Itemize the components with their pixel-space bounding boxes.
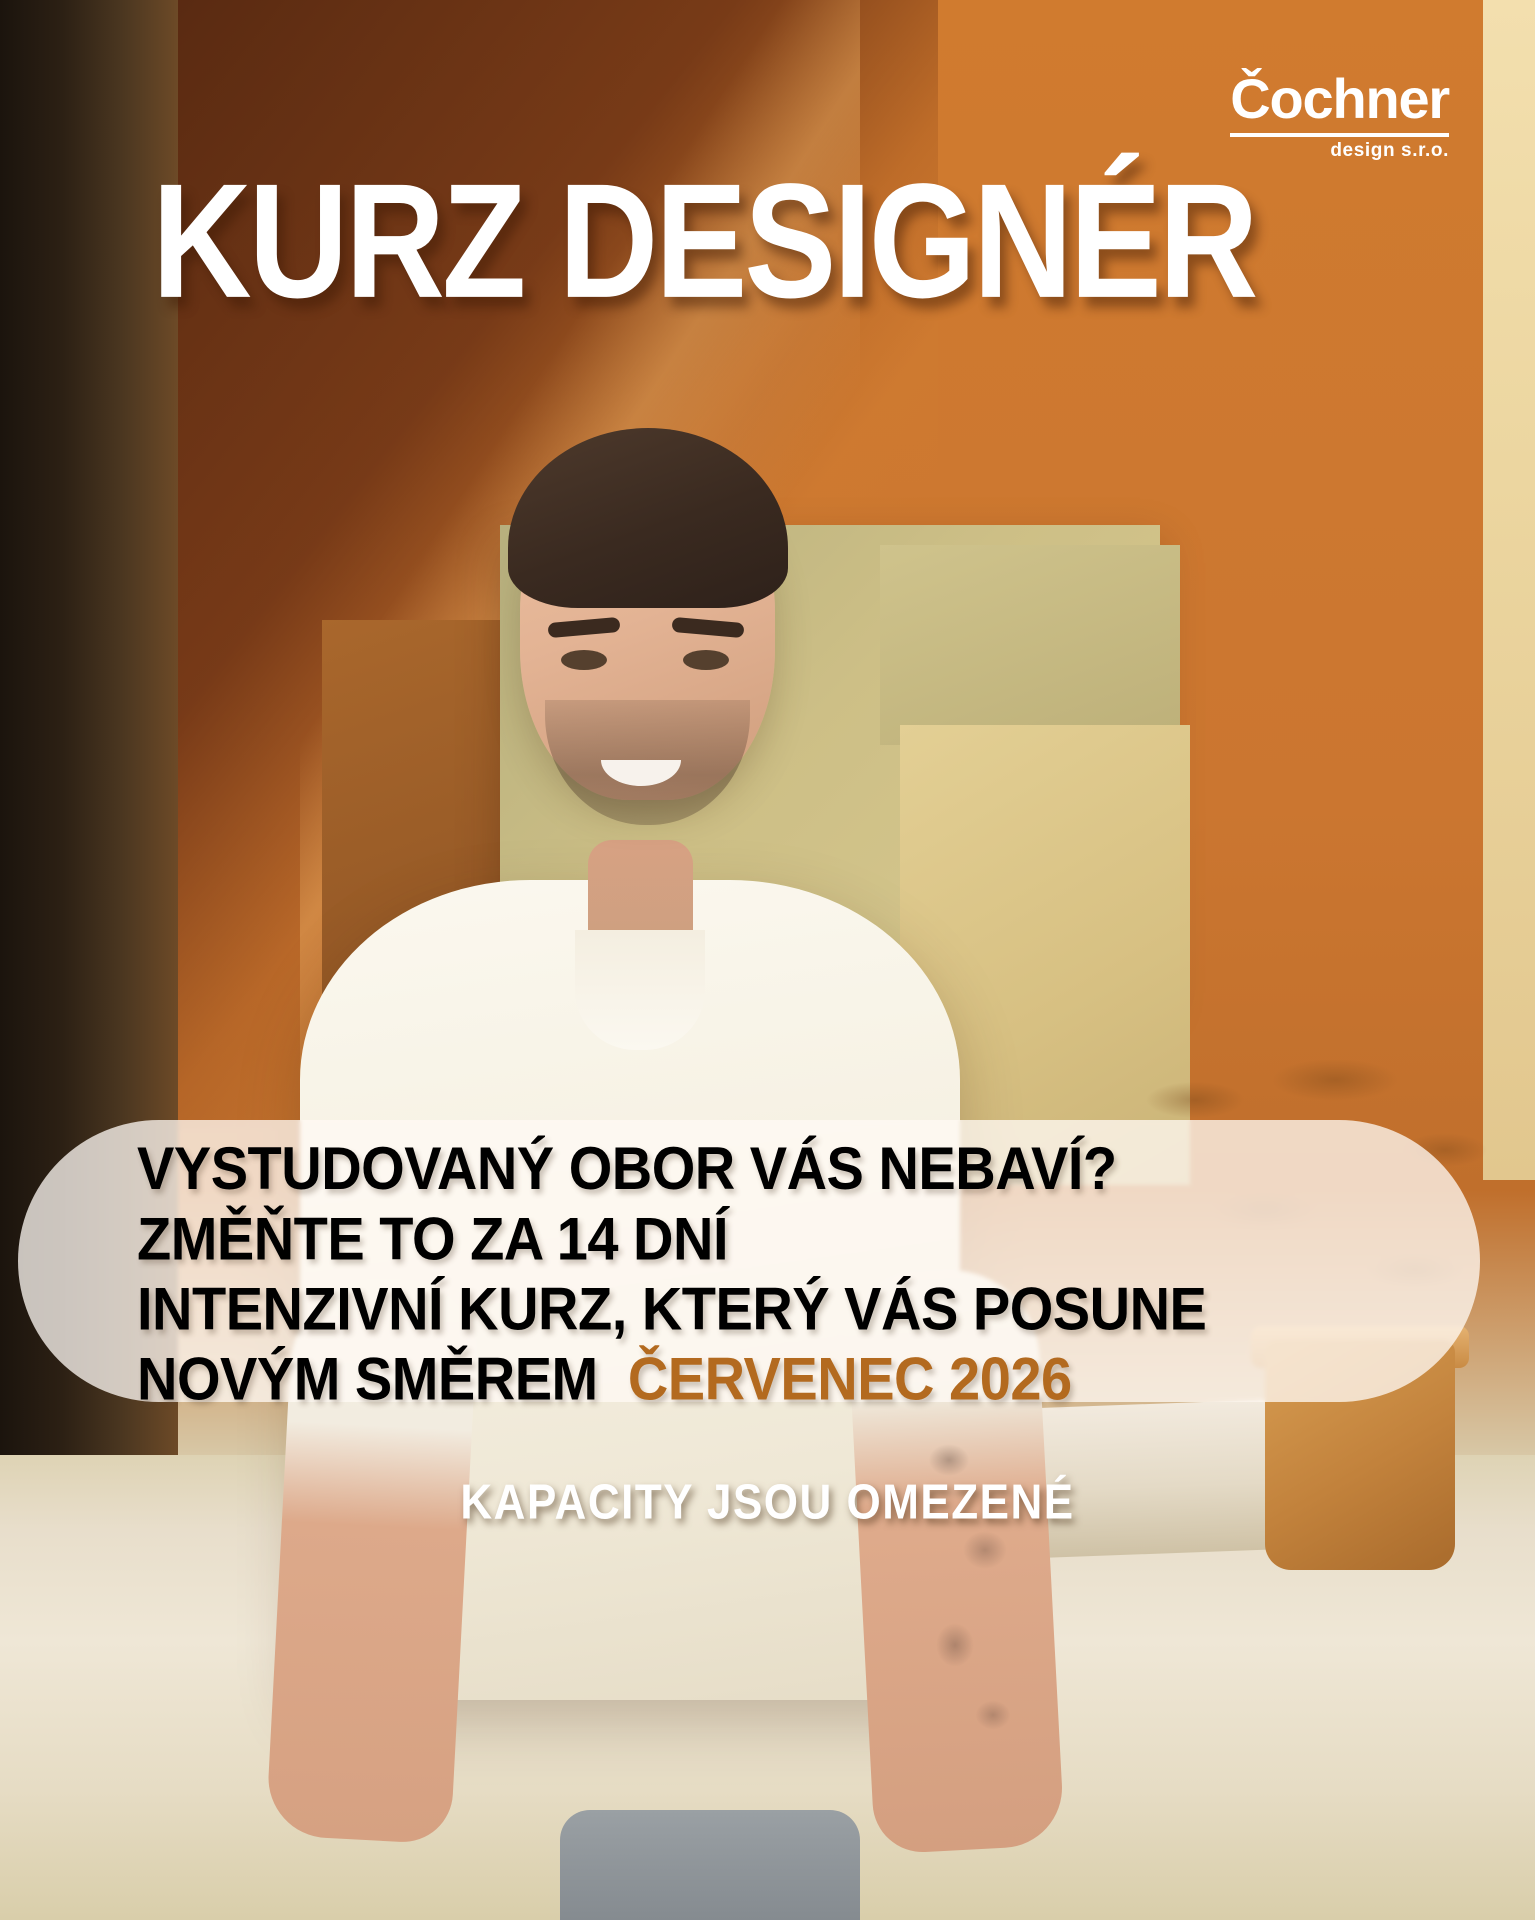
message-line-3: INTENZIVNÍ KURZ, KTERÝ VÁS POSUNE	[137, 1274, 1457, 1344]
subject-shirt-collar	[575, 930, 705, 1050]
message-line-4-prefix: NOVÝM SMĚREM	[137, 1344, 598, 1412]
subject-arm-tattoo	[915, 1420, 1035, 1750]
brand-logo: Čochner design s.r.o.	[1230, 72, 1449, 162]
course-date-badge: ČERVENEC 2026	[628, 1344, 1072, 1412]
subject-jeans	[560, 1810, 860, 1920]
subject-eye-left	[561, 650, 607, 670]
brand-logo-underline	[1230, 133, 1449, 137]
brand-logo-wordmark: Čochner	[1230, 72, 1449, 127]
page-title: KURZ DESIGNÉR	[152, 160, 1255, 323]
poster-root: Čochner design s.r.o. KURZ DESIGNÉR VYST…	[0, 0, 1535, 1920]
subject-eye-right	[683, 650, 729, 670]
message-line-1: VYSTUDOVANÝ OBOR VÁS NEBAVÍ?	[137, 1134, 1457, 1204]
message-line-4: NOVÝM SMĚREM ČERVENEC 2026	[137, 1344, 1457, 1414]
message-line-2: ZMĚŇTE TO ZA 14 DNÍ	[137, 1204, 1457, 1274]
capacity-tagline: KAPACITY JSOU OMEZENÉ	[0, 1475, 1535, 1531]
brand-logo-subtitle: design s.r.o.	[1230, 140, 1449, 162]
message-panel-text: VYSTUDOVANÝ OBOR VÁS NEBAVÍ? ZMĚŇTE TO Z…	[137, 1134, 1457, 1415]
subject-hair	[508, 428, 788, 608]
